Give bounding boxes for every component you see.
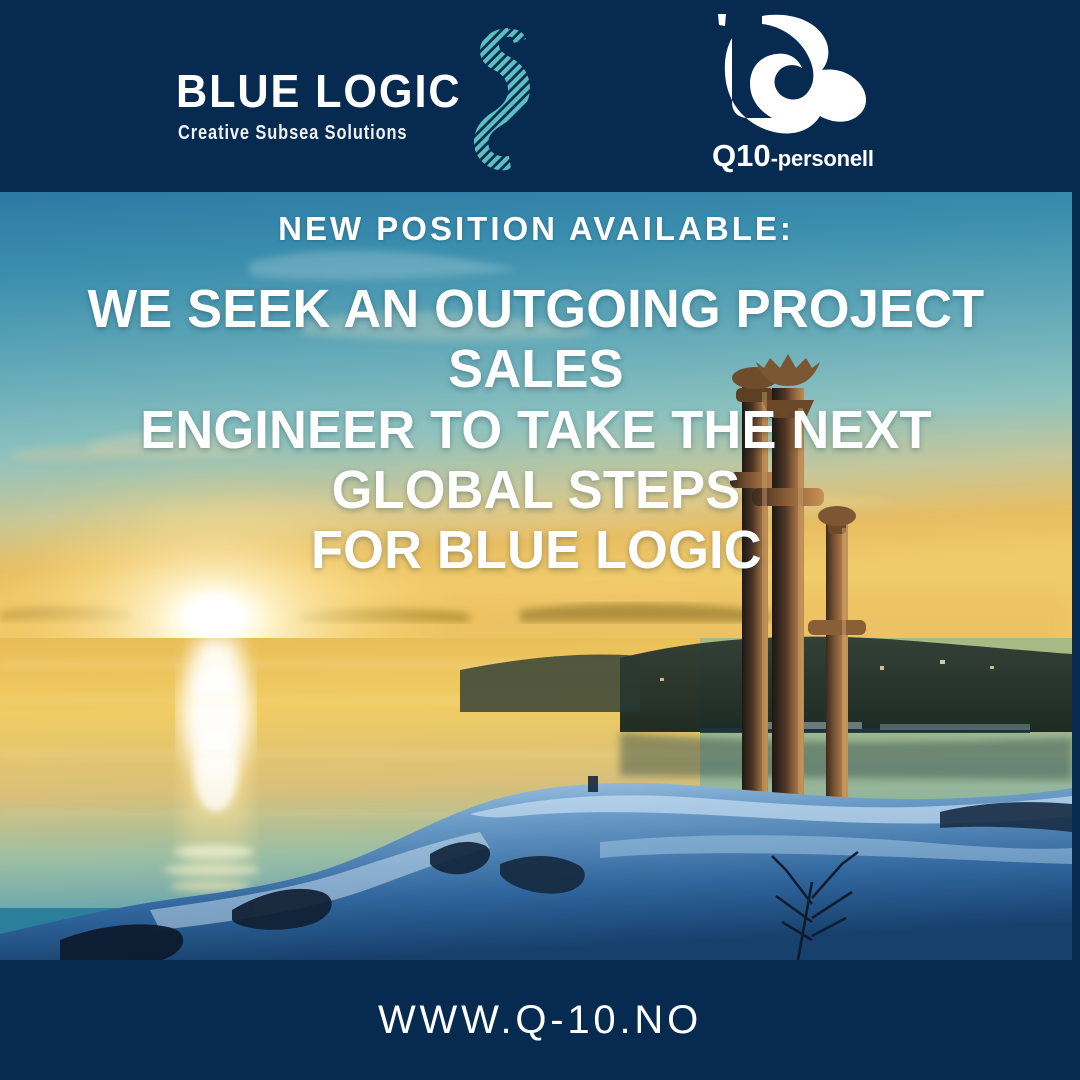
poster-canvas: BLUE LOGIC Creative Subsea Solutions (0, 0, 1080, 1080)
q10-name-primary: Q10 (712, 138, 771, 173)
logo-bar: BLUE LOGIC Creative Subsea Solutions (0, 0, 1080, 192)
blue-logic-tagline: Creative Subsea Solutions (178, 123, 407, 143)
q10-wordmark: Q10-personell (712, 140, 892, 171)
q10-bird-icon (710, 12, 882, 134)
seahorse-icon (468, 26, 540, 172)
blue-logic-wordmark: BLUE LOGIC (176, 68, 441, 114)
photo-right-edge-fill (1072, 192, 1080, 960)
hero-photo-sverd-i-fjell (0, 192, 1072, 960)
website-url[interactable]: WWW.Q-10.NO (378, 1000, 702, 1040)
q10-personell-logo[interactable]: Q10-personell (706, 12, 894, 172)
footer-bar: WWW.Q-10.NO (0, 960, 1080, 1080)
blue-logic-logo[interactable]: BLUE LOGIC Creative Subsea Solutions (176, 24, 536, 170)
q10-name-secondary: -personell (771, 146, 874, 171)
